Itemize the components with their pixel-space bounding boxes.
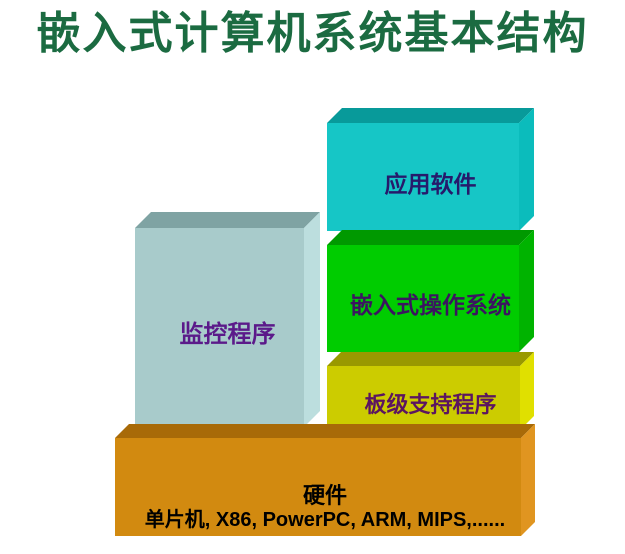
block-board-support-package[interactable]: 板级支持程序 — [327, 352, 534, 430]
hardware-3d-shape — [115, 424, 535, 536]
application-software-3d-shape — [327, 108, 534, 231]
block-embedded-os[interactable]: 嵌入式操作系统 — [327, 230, 534, 352]
block-monitor-program[interactable]: 监控程序 — [135, 212, 320, 427]
block-application-software[interactable]: 应用软件 — [327, 108, 534, 231]
monitor-program-3d-shape — [135, 212, 320, 427]
slide-canvas: 嵌入式计算机系统基本结构 监控程序 应用软件 — [0, 0, 625, 554]
embedded-os-3d-shape — [327, 230, 534, 352]
block-hardware[interactable]: 硬件 单片机, X86, PowerPC, ARM, MIPS,...... — [115, 424, 535, 536]
board-support-package-3d-shape — [327, 352, 534, 430]
page-title: 嵌入式计算机系统基本结构 — [0, 12, 625, 56]
